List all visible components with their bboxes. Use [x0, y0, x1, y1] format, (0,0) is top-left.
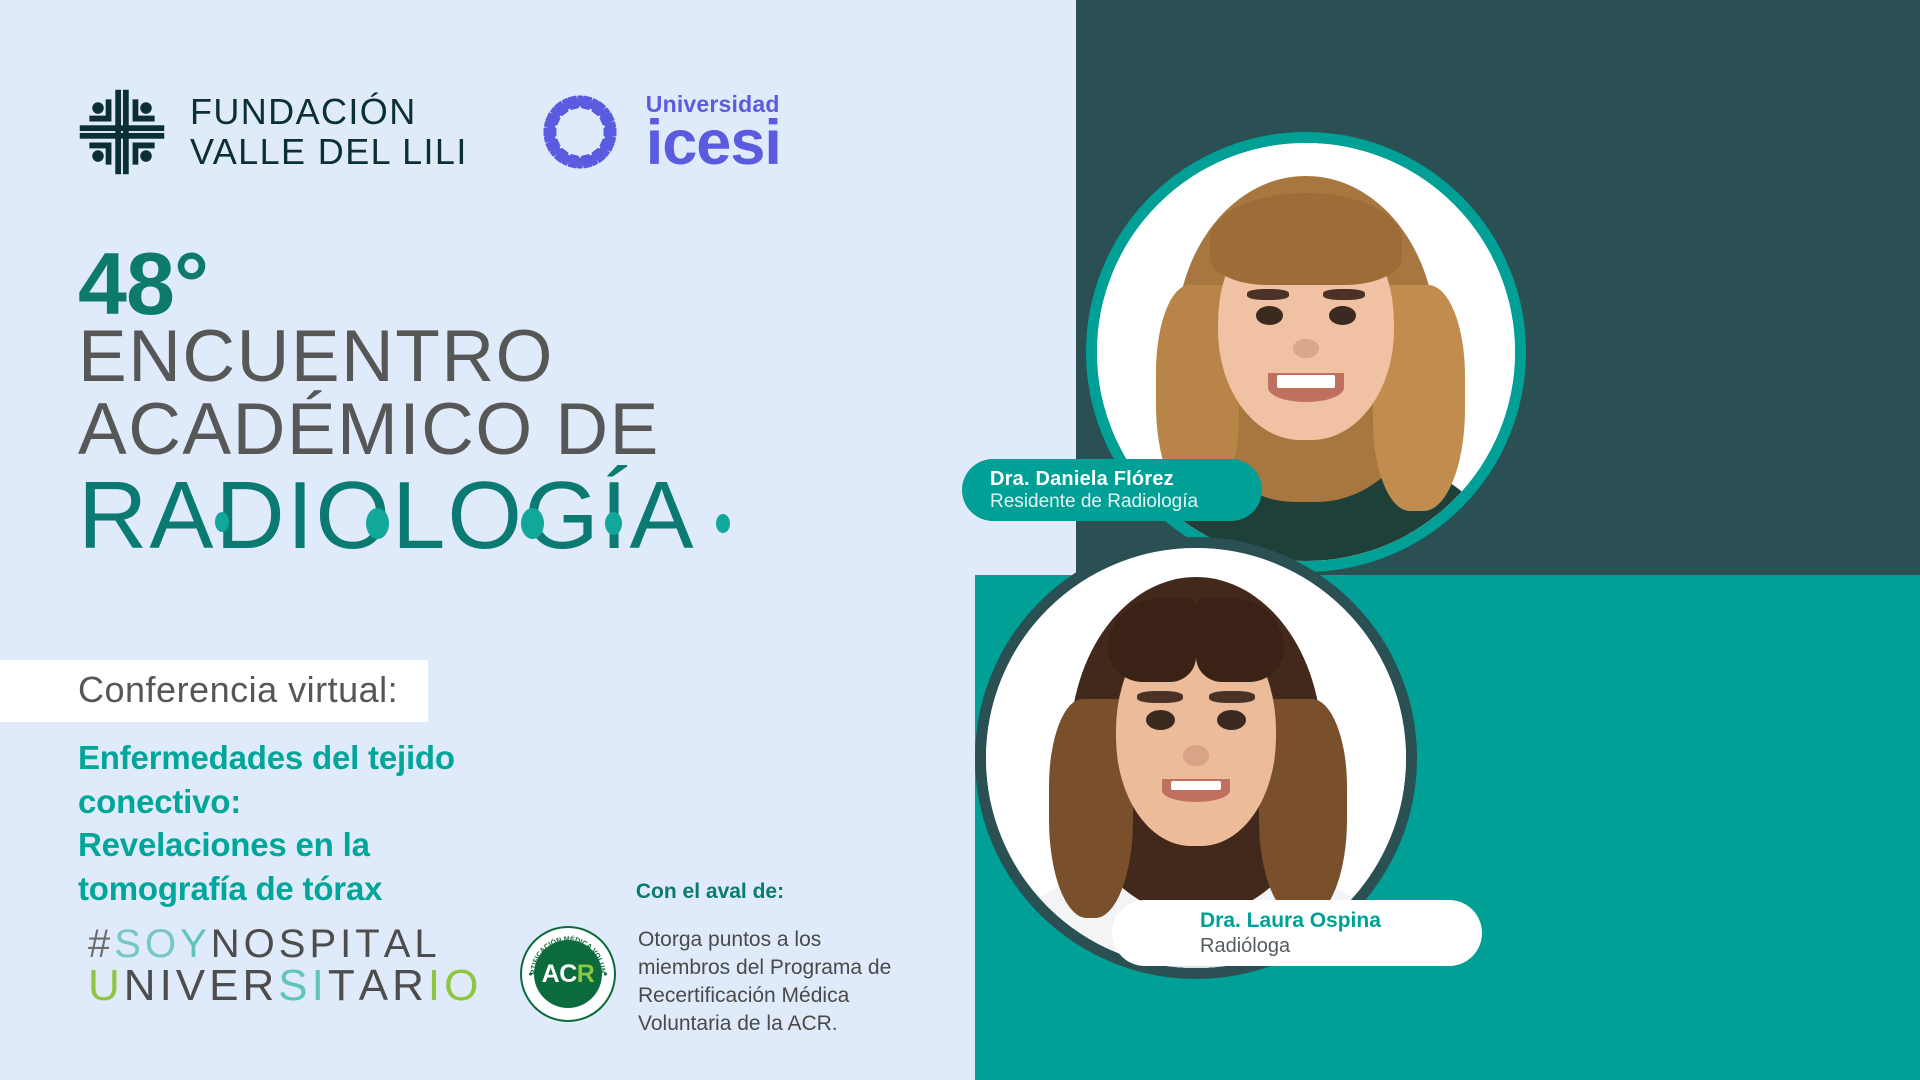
- acr-acronym-r: R: [577, 960, 595, 989]
- conference-title-line1: Enfermedades del tejido conectivo:: [78, 736, 500, 823]
- speaker-label-daniela-florez: Dra. Daniela Flórez Residente de Radiolo…: [962, 459, 1262, 521]
- fvl-cross-icon: [74, 84, 170, 180]
- hashtag-letter: S: [114, 924, 142, 964]
- hashtag-letter: P: [309, 924, 337, 964]
- edition-number: 48°: [78, 248, 695, 320]
- conference-title-line2: Revelaciones en la tomografía de tórax: [78, 823, 500, 910]
- hashtag-letter: R: [392, 964, 425, 1008]
- conference-title: Enfermedades del tejido conectivo: Revel…: [0, 736, 500, 910]
- hashtag-letter: I: [340, 924, 352, 964]
- hashtag-letter: T: [328, 964, 356, 1008]
- hashtag-letter: S: [279, 924, 307, 964]
- radiologia-dot: [716, 514, 730, 533]
- hashtag-letter: R: [243, 964, 276, 1008]
- hashtag-letter: E: [209, 964, 239, 1008]
- hashtag-letter: A: [359, 964, 389, 1008]
- conference-block: Conferencia virtual: Enfermedades del te…: [0, 660, 500, 910]
- speaker-name: Dra. Laura Ospina: [1200, 908, 1482, 933]
- fvl-line2: VALLE DEL LILI: [190, 132, 468, 172]
- hashtag-letter: S: [278, 964, 308, 1008]
- hashtag-letter: N: [211, 924, 241, 964]
- conference-label: Conferencia virtual:: [0, 660, 428, 722]
- fvl-wordmark: FUNDACIÓN VALLE DEL LILI: [190, 92, 468, 173]
- hashtag-letter: Y: [180, 924, 208, 964]
- hashtag-letter: #: [88, 924, 111, 964]
- hashtag-letter: U: [88, 964, 121, 1008]
- hashtag-letter: L: [414, 924, 437, 964]
- heading-line-1: ENCUENTRO: [78, 320, 695, 393]
- universidad-icesi-logo: Universidad icesi: [528, 80, 781, 184]
- speaker-role: Radióloga: [1200, 934, 1482, 958]
- endorsement-heading: Con el aval de:: [520, 880, 900, 904]
- fvl-line1: FUNDACIÓN: [190, 92, 468, 132]
- hashtag-letter: O: [444, 964, 479, 1008]
- endorsement-text: Otorga puntos a los miembros del Program…: [638, 926, 891, 1038]
- hashtag-letter: O: [145, 924, 177, 964]
- hashtag-letter: T: [355, 924, 380, 964]
- acr-acronym-ac: AC: [542, 960, 577, 989]
- heading-line-3-wrap: RADIOLOGÍA: [78, 468, 695, 564]
- hashtag-letter: O: [244, 924, 276, 964]
- speaker-name: Dra. Daniela Flórez: [990, 468, 1262, 491]
- hashtag-letter: I: [160, 964, 173, 1008]
- hashtag-row-2: UNIVERSITARIO: [88, 964, 479, 1008]
- soy-hospital-universitario-logo: #SOYNOSPITAL UNIVERSITARIO: [88, 924, 479, 1008]
- endorsement-text-line3: Recertificación Médica: [638, 982, 891, 1010]
- poster-canvas: Dra. Daniela Flórez Residente de Radiolo…: [0, 0, 1920, 1080]
- speaker-label-laura-ospina: Dra. Laura Ospina Radióloga: [1112, 900, 1482, 966]
- hashtag-row-1: #SOYNOSPITAL: [88, 924, 479, 964]
- heading-line-2: ACADÉMICO DE: [78, 393, 695, 466]
- icesi-sunburst-icon: [528, 80, 632, 184]
- acr-seal-icon: RECERTIFICACIÓN MÉDICA VOLUNTARIA ASOCIA…: [520, 926, 616, 1022]
- hashtag-letter: I: [312, 964, 325, 1008]
- endorsement-text-line2: miembros del Programa de: [638, 954, 891, 982]
- endorsement-text-line4: Voluntaria de la ACR.: [638, 1010, 891, 1038]
- hashtag-letter: V: [176, 964, 206, 1008]
- radiologia-dot: [366, 508, 389, 539]
- radiologia-dot: [605, 512, 622, 535]
- logo-row: FUNDACIÓN VALLE DEL LILI Universidad ice…: [74, 80, 781, 184]
- hashtag-letter: N: [124, 964, 157, 1008]
- fundacion-valle-del-lili-logo: FUNDACIÓN VALLE DEL LILI: [74, 84, 468, 180]
- hashtag-letter: A: [384, 924, 412, 964]
- endorsement-block: Con el aval de: RECERTIFICACIÓN MÉDICA V…: [520, 880, 900, 1038]
- icesi-wordmark: icesi: [646, 114, 781, 174]
- event-heading: 48° ENCUENTRO ACADÉMICO DE RADIOLOGÍA: [78, 248, 695, 564]
- radiologia-dot: [521, 508, 544, 539]
- endorsement-text-line1: Otorga puntos a los: [638, 926, 891, 954]
- speaker-role: Residente de Radiología: [990, 491, 1262, 513]
- hashtag-letter: I: [428, 964, 441, 1008]
